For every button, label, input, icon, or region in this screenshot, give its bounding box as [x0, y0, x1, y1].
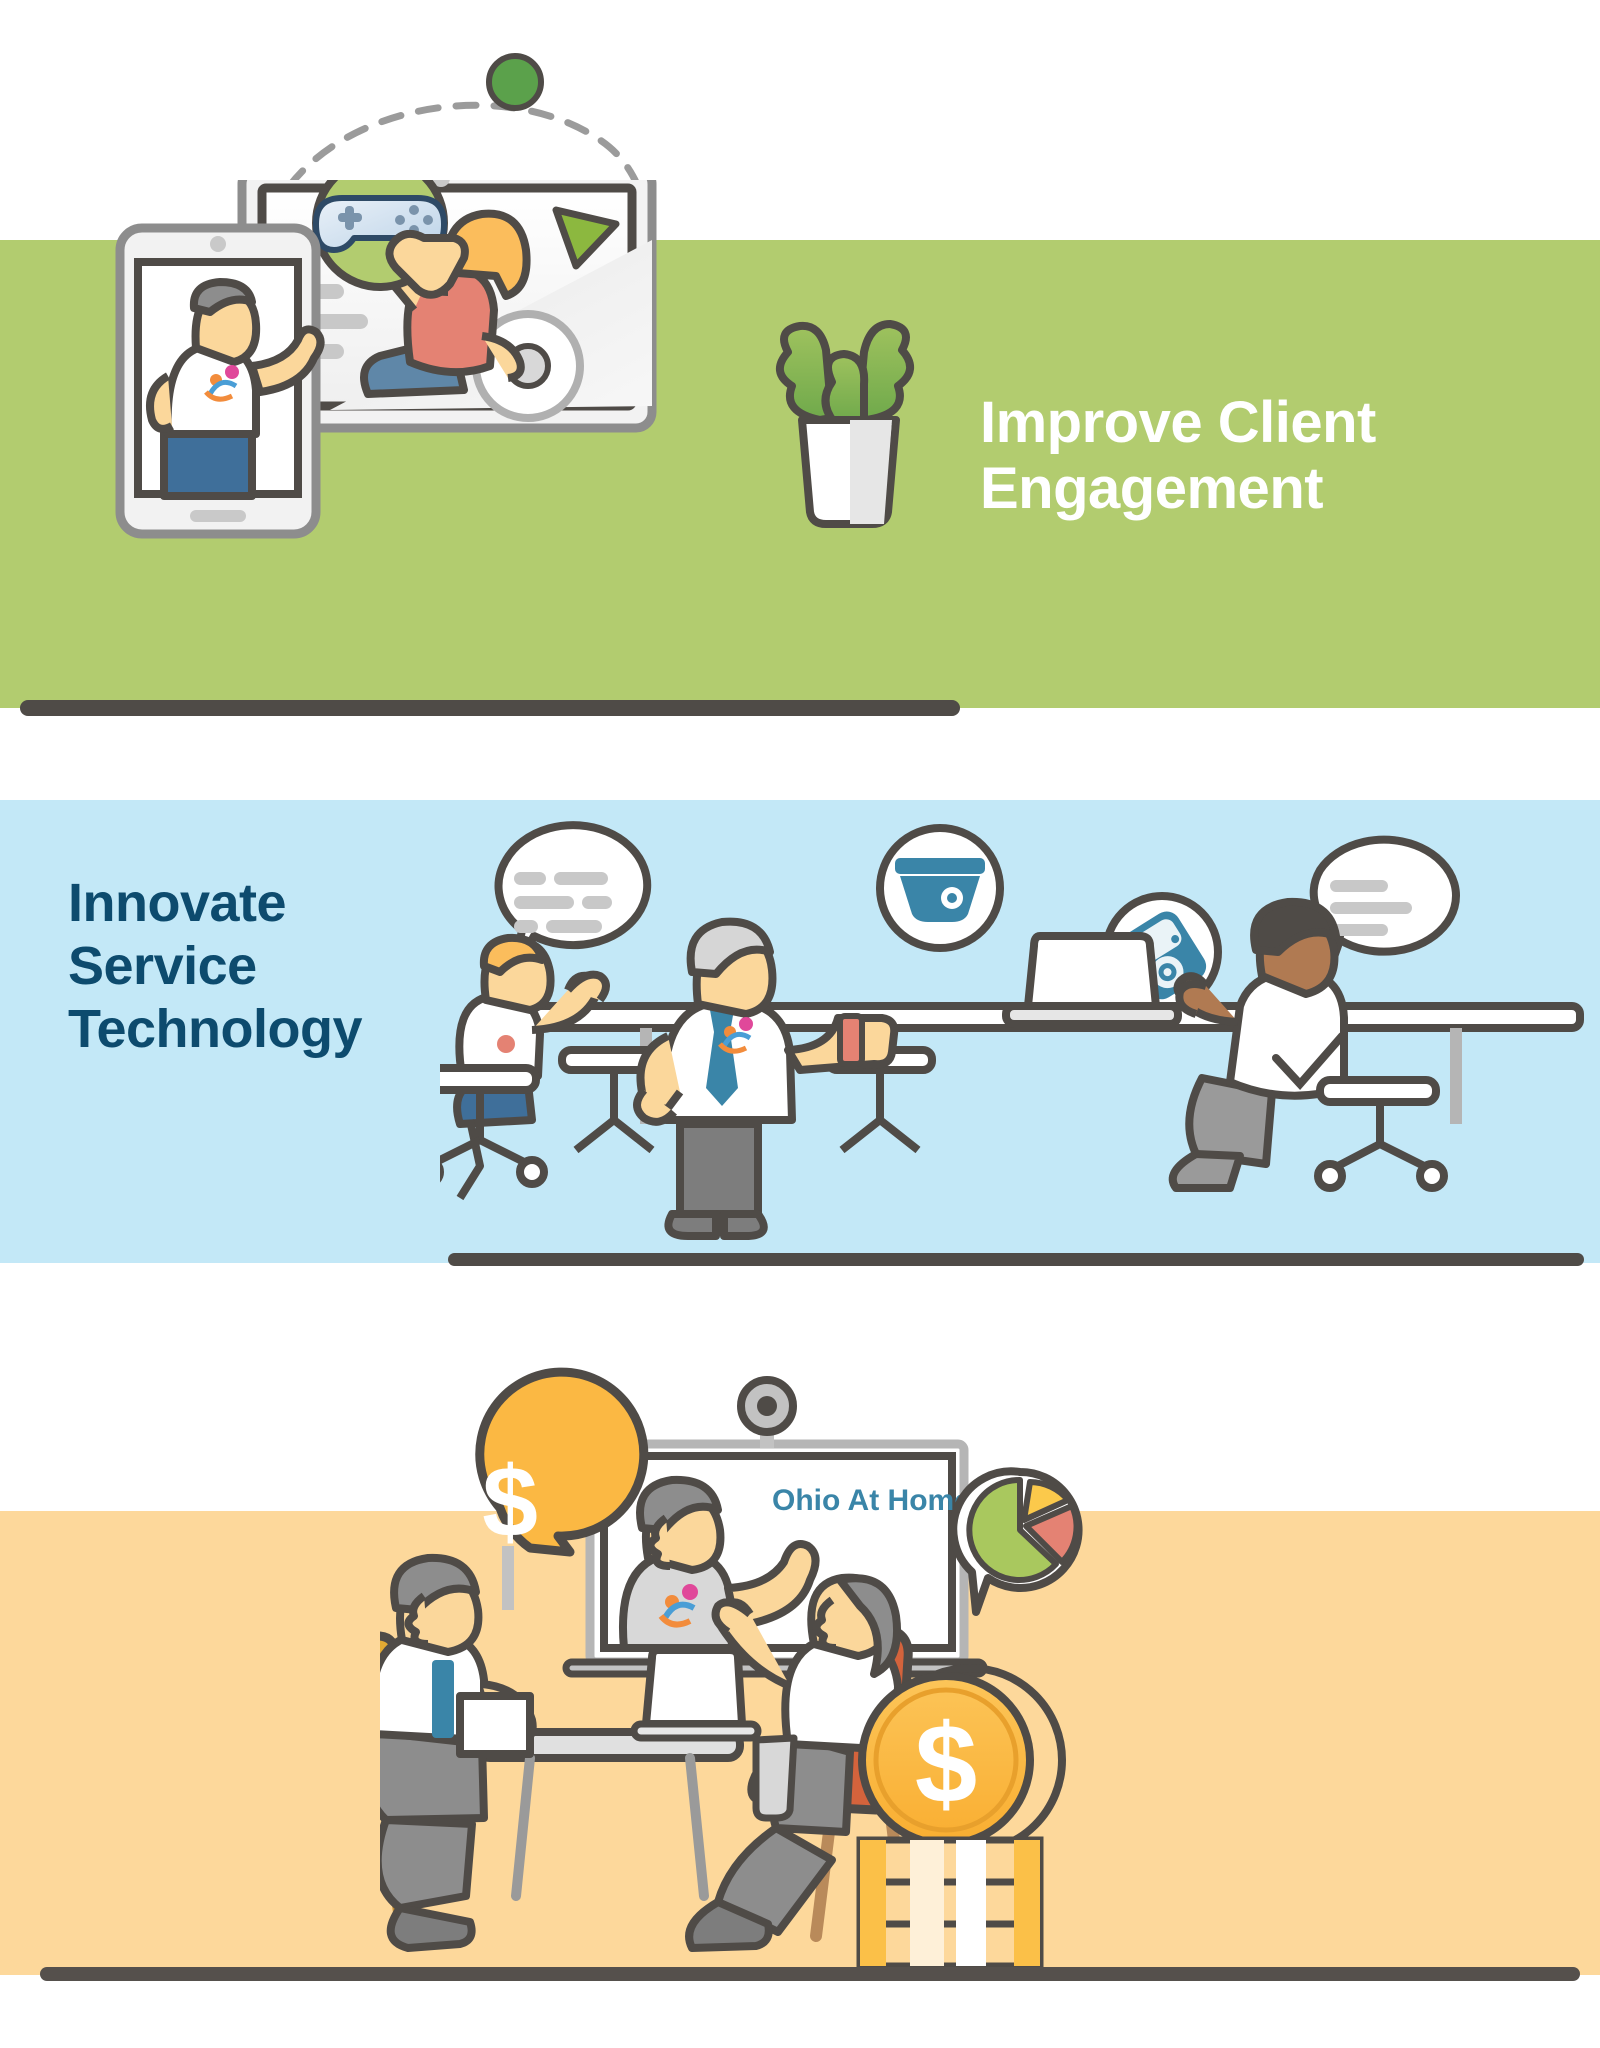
person-left-with-tablet	[380, 1558, 533, 1948]
blue-panel-floor-line	[448, 1253, 1584, 1266]
svg-text:$: $	[915, 1701, 977, 1826]
laptop-on-table	[634, 1650, 758, 1738]
orange-panel-floor-line	[40, 1967, 1580, 1981]
mid-green-dot	[489, 56, 541, 108]
orange-panel-illustration: Ohio At Home $	[380, 1340, 1480, 1980]
person-standing-with-tie	[637, 922, 894, 1236]
blue-panel-illustration	[440, 820, 1600, 1270]
gold-dollar-coin: $	[862, 1668, 1062, 1852]
potted-cactus	[780, 324, 910, 524]
office-chair-right	[1318, 1080, 1444, 1188]
pie-chart-badge	[953, 1471, 1078, 1612]
green-title-line-2: Engagement	[980, 456, 1540, 522]
green-title-line-1: Improve Client	[980, 390, 1540, 456]
cash-stack	[860, 1840, 1040, 1966]
green-panel-floor-line	[20, 700, 960, 716]
panel-title-improve-client-engagement: Improve Client Engagement	[980, 390, 1540, 522]
coffee-cup	[756, 1738, 794, 1818]
screen-label: Ohio At Home	[772, 1484, 971, 1517]
security-camera-badge	[880, 828, 1000, 948]
laptop	[1006, 936, 1178, 1024]
svg-text:$: $	[482, 1446, 538, 1558]
green-panel-illustration	[20, 180, 980, 720]
